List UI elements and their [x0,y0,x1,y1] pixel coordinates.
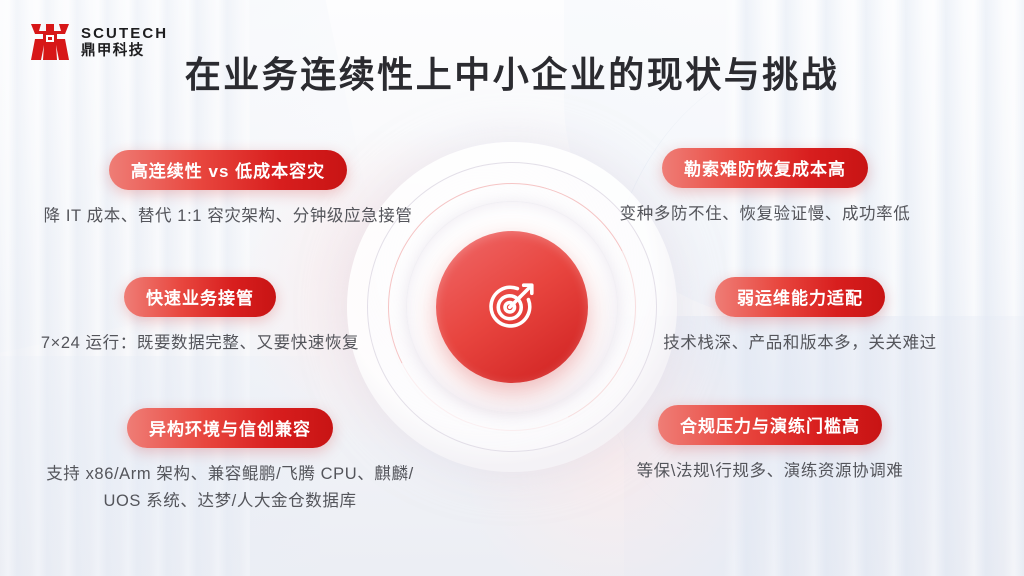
challenge-desc: 7×24 运行：既要数据完整、又要快速恢复 [0,330,400,357]
challenge-desc: 变种多防不住、恢复验证慢、成功率低 [600,201,930,228]
challenge-item-left-1: 高连续性 vs 低成本容灾 降 IT 成本、替代 1:1 容灾架构、分钟级应急接… [18,150,438,230]
slide-root: SCUTECH 鼎甲科技 在业务连续性上中小企业的现状与挑战 [0,0,1024,576]
challenge-desc: 技术栈深、产品和版本多，关关难过 [630,330,970,357]
challenge-item-right-3: 合规压力与演练门槛高 等保\法规\行规多、演练资源协调难 [600,405,940,485]
challenge-pill: 弱运维能力适配 [715,277,885,317]
center-core [436,231,588,383]
brand-logo: SCUTECH 鼎甲科技 [27,21,168,63]
challenge-item-right-2: 弱运维能力适配 技术栈深、产品和版本多，关关难过 [630,277,970,357]
challenge-pill: 异构环境与信创兼容 [127,408,333,448]
challenge-item-right-1: 勒索难防恢复成本高 变种多防不住、恢复验证慢、成功率低 [600,148,930,228]
challenge-pill: 快速业务接管 [124,277,276,317]
brand-name-en: SCUTECH [81,26,168,41]
challenge-item-left-3: 异构环境与信创兼容 支持 x86/Arm 架构、兼容鲲鹏/飞腾 CPU、麒麟/ … [20,408,440,514]
challenge-pill: 高连续性 vs 低成本容灾 [109,150,347,190]
challenge-desc: 降 IT 成本、替代 1:1 容灾架构、分钟级应急接管 [18,203,438,230]
challenge-desc: 支持 x86/Arm 架构、兼容鲲鹏/飞腾 CPU、麒麟/ UOS 系统、达梦/… [20,461,440,514]
challenge-desc: 等保\法规\行规多、演练资源协调难 [600,458,940,485]
challenge-pill: 勒索难防恢复成本高 [662,148,868,188]
brand-name-cn: 鼎甲科技 [81,44,168,59]
brand-text: SCUTECH 鼎甲科技 [81,26,168,59]
scutech-logo-icon [27,21,73,63]
target-arrow-icon [485,278,539,337]
challenge-pill: 合规压力与演练门槛高 [658,405,882,445]
challenge-item-left-2: 快速业务接管 7×24 运行：既要数据完整、又要快速恢复 [0,277,400,357]
